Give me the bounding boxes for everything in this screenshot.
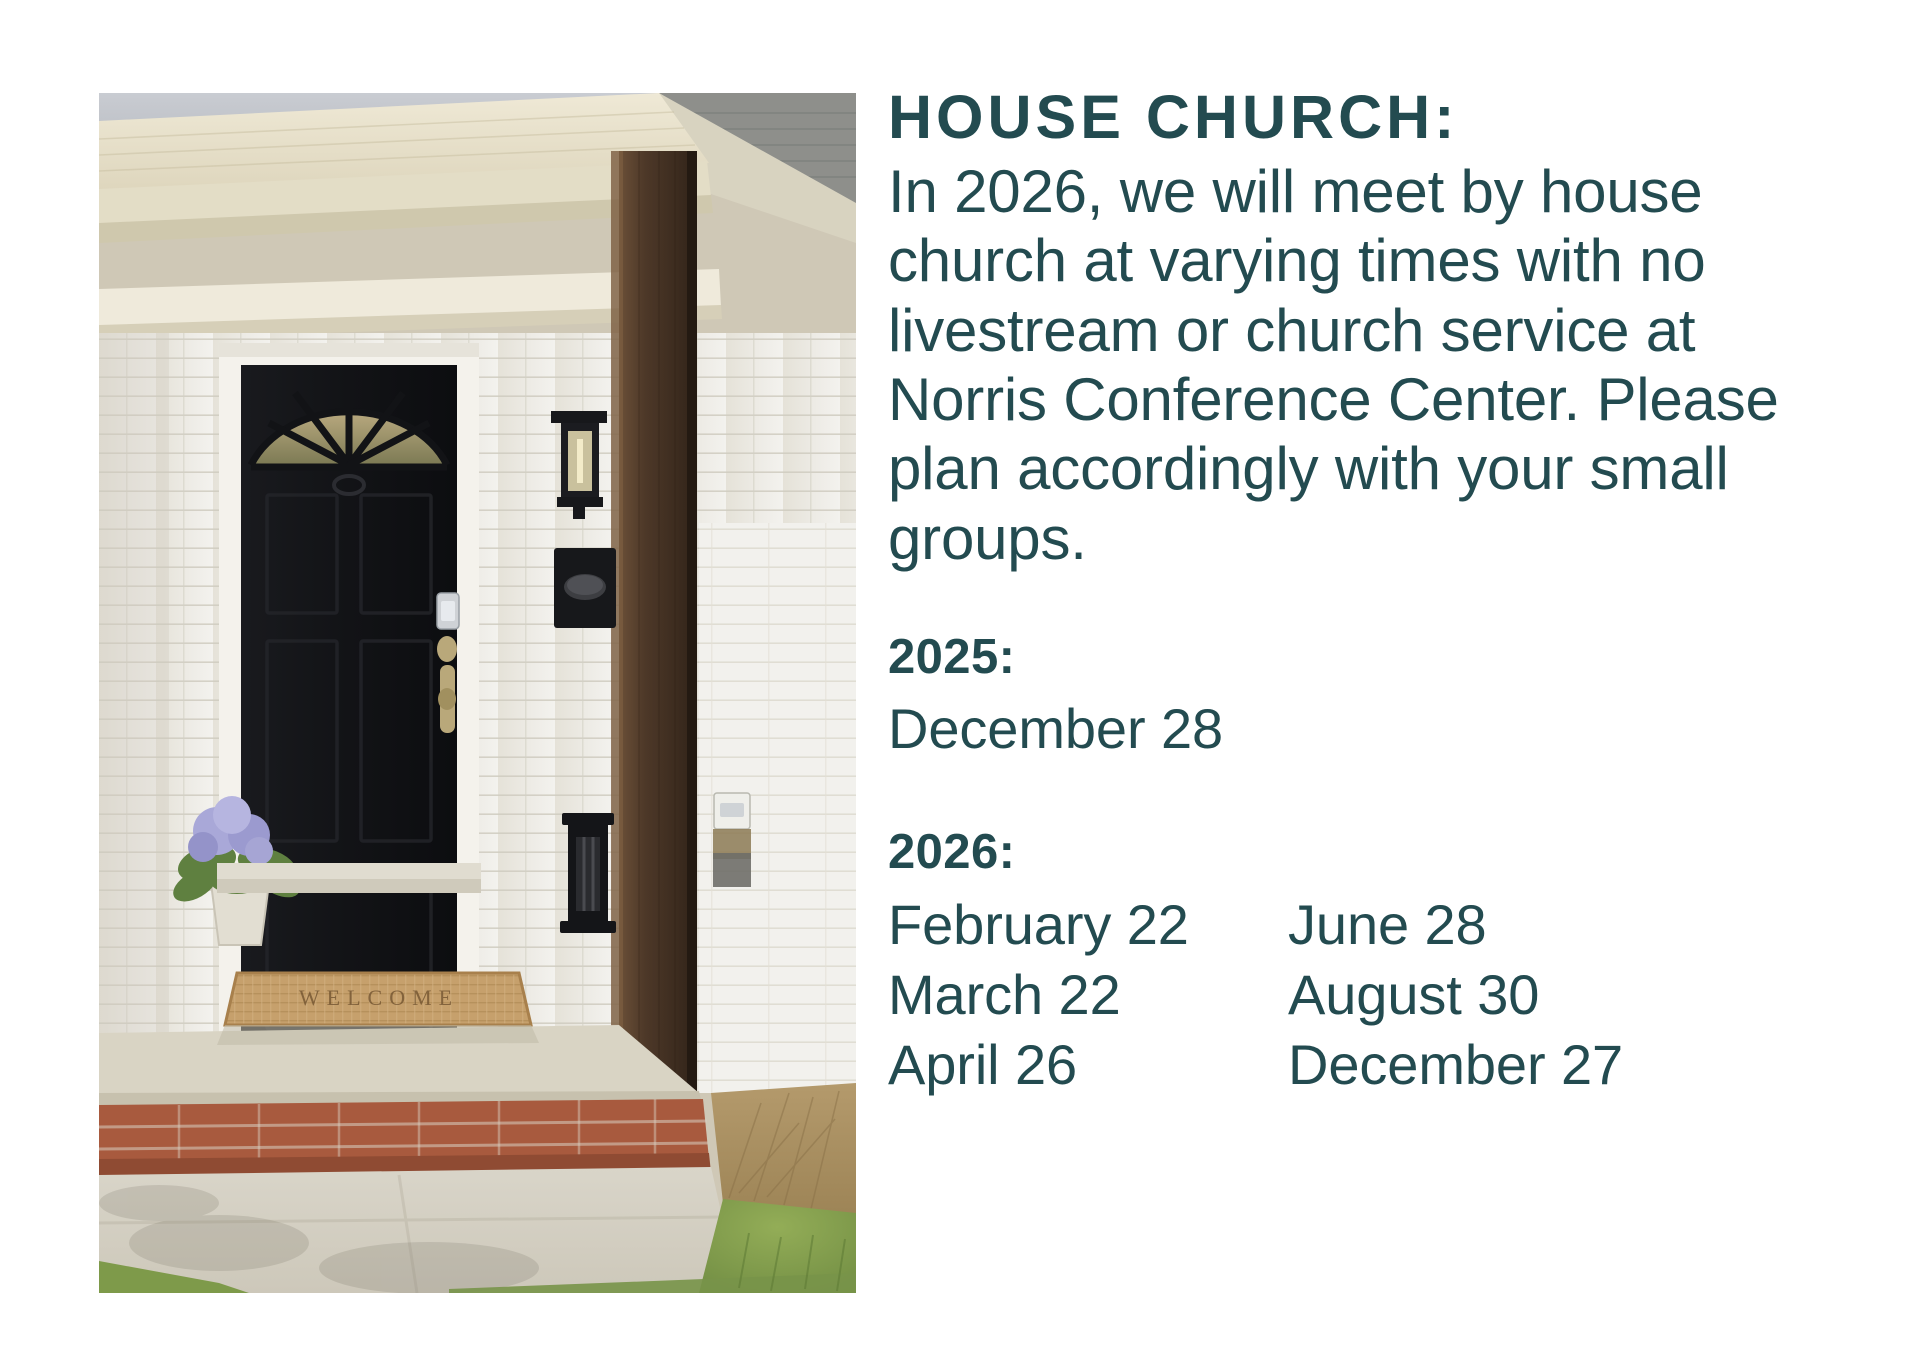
year-block-2026: 2026: February 22 March 22 April 26 June… [888, 824, 1868, 1100]
year-label-2025: 2025: [888, 629, 1868, 687]
svg-text:WELCOME: WELCOME [299, 985, 459, 1010]
house-front-door-photo: WELCOME [99, 93, 856, 1293]
date-item-august: August 30 [1288, 960, 1748, 1030]
poster-canvas: WELCOME [0, 0, 1920, 1353]
announcement-text-panel: HOUSE CHURCH: In 2026, we will meet by h… [888, 84, 1868, 1100]
page-title: HOUSE CHURCH: [888, 84, 1868, 151]
date-item-february: February 22 [888, 890, 1288, 960]
announcement-paragraph: In 2026, we will meet by house church at… [888, 157, 1868, 573]
house-photo-illustration: WELCOME [99, 93, 856, 1293]
date-column-right: June 28 August 30 December 27 [1288, 890, 1748, 1100]
year-block-2025: 2025: December 28 [888, 629, 1868, 762]
date-column-left: February 22 March 22 April 26 [888, 890, 1288, 1100]
year-label-2026: 2026: [888, 824, 1868, 882]
date-item-june: June 28 [1288, 890, 1748, 960]
date-item-2025-december: December 28 [888, 695, 1868, 762]
date-columns-2026: February 22 March 22 April 26 June 28 Au… [888, 890, 1868, 1100]
date-item-december: December 27 [1288, 1030, 1748, 1100]
date-item-march: March 22 [888, 960, 1288, 1030]
date-item-april: April 26 [888, 1030, 1288, 1100]
